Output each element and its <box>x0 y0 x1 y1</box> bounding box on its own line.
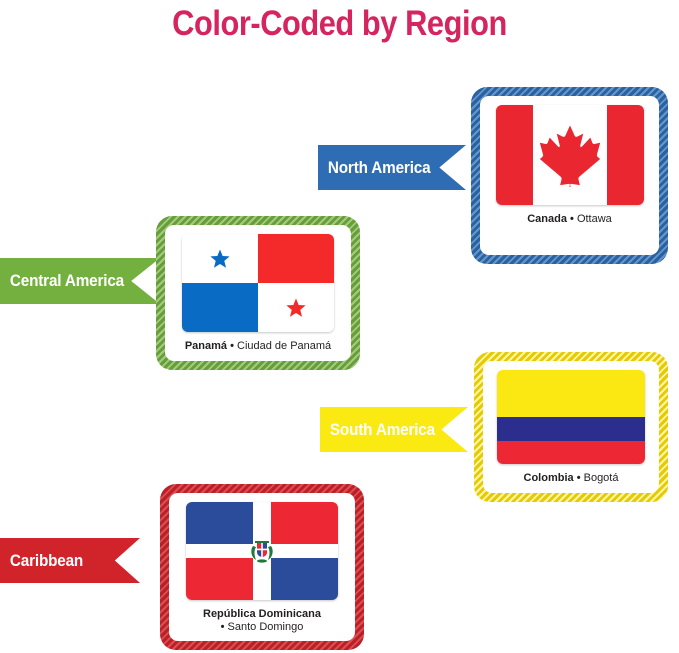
maple-leaf-icon <box>539 123 601 187</box>
banner-caribbean[interactable]: Caribbean <box>0 538 140 583</box>
panama-flag-quadrant-top-left <box>182 234 258 283</box>
banner-south-america[interactable]: South America <box>320 407 468 452</box>
dr-flag-quadrant-bottom-right <box>271 558 338 600</box>
colombia-flag <box>497 370 645 464</box>
card-dominican-republic-inner: República Dominicana • Santo Domingo <box>169 493 355 641</box>
card-dominican-republic[interactable]: República Dominicana • Santo Domingo <box>160 484 364 650</box>
banner-south-america-label: South America <box>320 420 435 440</box>
dr-flag-quadrant-top-right <box>271 502 338 544</box>
panama-flag-quadrant-bottom-left <box>182 283 258 332</box>
blue-star-icon <box>209 248 231 270</box>
canada-flag-center-band <box>533 105 607 205</box>
card-panama-caption: Panamá • Ciudad de Panamá <box>185 340 331 353</box>
canada-flag <box>496 105 644 205</box>
card-dr-capital-line: • Santo Domingo <box>203 621 321 634</box>
canada-flag-left-band <box>496 105 533 205</box>
card-colombia-inner: Colombia • Bogotá <box>483 361 659 493</box>
dr-flag-quadrant-top-left <box>186 502 253 544</box>
panama-flag-quadrant-top-right <box>258 234 334 283</box>
banner-north-america-label: North America <box>318 158 430 178</box>
card-panama-separator: • <box>230 340 234 352</box>
red-star-icon <box>285 297 307 319</box>
card-panama[interactable]: Panamá • Ciudad de Panamá <box>156 216 360 370</box>
colombia-flag-red-stripe <box>497 441 645 465</box>
card-dominican-republic-country: República Dominicana <box>203 608 321 620</box>
colombia-flag-blue-stripe <box>497 417 645 441</box>
card-canada-separator: • <box>570 213 574 225</box>
banner-central-america-label: Central America <box>0 271 124 291</box>
dr-flag-quadrant-bottom-left <box>186 558 253 600</box>
card-colombia-country: Colombia <box>524 472 574 484</box>
card-canada-capital: Ottawa <box>577 213 612 225</box>
colombia-flag-yellow-stripe <box>497 370 645 417</box>
dominican-republic-flag <box>186 502 338 600</box>
card-dominican-republic-capital: Santo Domingo <box>228 621 304 633</box>
page-title: Color-Coded by Region <box>41 4 639 44</box>
card-dr-country-line: República Dominicana <box>203 608 321 621</box>
banner-north-america[interactable]: North America <box>318 145 466 190</box>
banner-caribbean-label: Caribbean <box>0 551 83 571</box>
coat-of-arms-icon <box>249 537 275 565</box>
card-canada[interactable]: Canada • Ottawa <box>471 87 668 264</box>
card-panama-capital: Ciudad de Panamá <box>237 340 331 352</box>
card-canada-caption: Canada • Ottawa <box>527 213 612 226</box>
canada-flag-right-band <box>607 105 644 205</box>
card-panama-inner: Panamá • Ciudad de Panamá <box>165 225 351 361</box>
card-canada-country: Canada <box>527 213 567 225</box>
card-canada-inner: Canada • Ottawa <box>480 96 659 255</box>
card-panama-country: Panamá <box>185 340 227 352</box>
banner-central-america[interactable]: Central America <box>0 258 160 304</box>
card-colombia-separator: • <box>577 472 581 484</box>
card-dominican-republic-caption: República Dominicana • Santo Domingo <box>203 608 321 634</box>
card-dominican-republic-separator: • <box>221 621 225 633</box>
panama-flag <box>182 234 334 332</box>
card-colombia-caption: Colombia • Bogotá <box>524 472 619 485</box>
card-colombia[interactable]: Colombia • Bogotá <box>474 352 668 502</box>
panama-flag-quadrant-bottom-right <box>258 283 334 332</box>
card-colombia-capital: Bogotá <box>584 472 619 484</box>
